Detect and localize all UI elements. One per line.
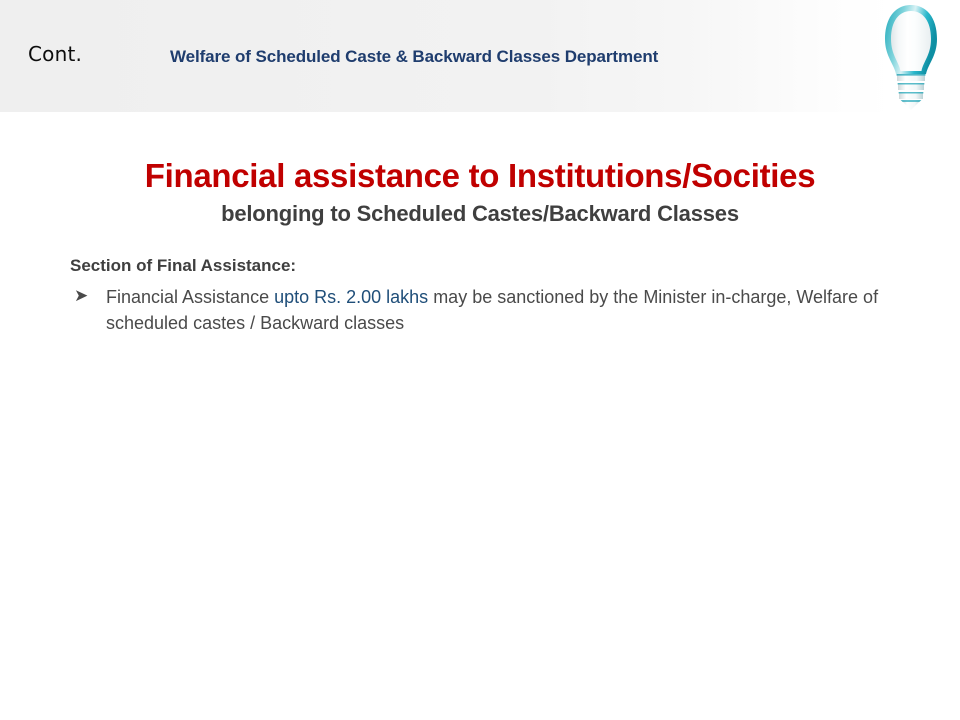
lightbulb-icon [870,2,952,112]
list-item-text: Financial Assistance upto Rs. 2.00 lakhs… [106,287,878,333]
slide-header-band: Cont. Welfare of Scheduled Caste & Backw… [0,0,960,112]
highlight-segment: upto Rs. 2.00 lakhs [274,287,428,307]
department-header-title: Welfare of Scheduled Caste & Backward Cl… [170,47,658,67]
page-subtitle: belonging to Scheduled Castes/Backward C… [0,201,960,227]
page-title: Financial assistance to Institutions/Soc… [0,158,960,195]
bullet-list: ➤ Financial Assistance upto Rs. 2.00 lak… [70,284,900,336]
title-block: Financial assistance to Institutions/Soc… [0,158,960,227]
text-segment: Financial Assistance [106,287,274,307]
slide-canvas: Cont. Welfare of Scheduled Caste & Backw… [0,0,960,720]
slide-body: Section of Final Assistance: ➤ Financial… [70,256,900,340]
list-item: ➤ Financial Assistance upto Rs. 2.00 lak… [70,284,900,336]
continuation-label: Cont. [28,42,82,66]
section-heading: Section of Final Assistance: [70,256,900,276]
arrow-bullet-icon: ➤ [74,284,88,309]
